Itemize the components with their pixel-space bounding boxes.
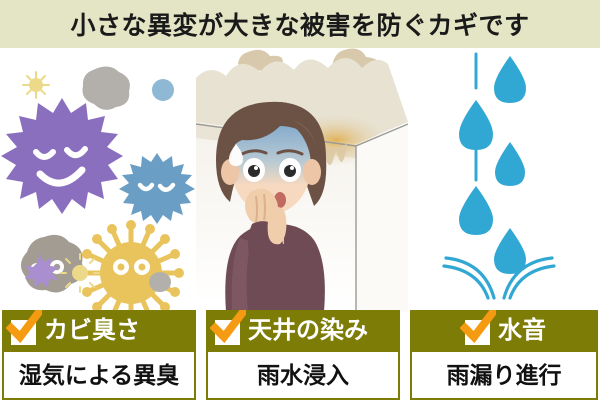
symptom-card-mold-smell[interactable]: カビ臭さ 湿気による異臭 [2,310,196,400]
card-body-text: 雨漏り進行 [447,364,562,387]
shocked-woman-icon [196,48,408,312]
infographic-root: 小さな異変が大きな被害を防ぐカギです [0,0,600,400]
mold-germs-illustration [0,48,200,312]
water-drip-illustration [408,48,600,312]
symptom-card-water-sound[interactable]: 水音 雨漏り進行 [410,310,598,400]
symptom-card-row: カビ臭さ 湿気による異臭 天井の染み 雨水浸入 [0,310,600,400]
header-banner: 小さな異変が大きな被害を防ぐカギです [0,0,600,48]
illustration-band [0,48,600,312]
card-title: 天井の染み [248,319,368,343]
checkmark-icon [462,316,492,346]
ceiling-stain-woman-illustration [196,48,408,312]
card-body: 雨水浸入 [206,352,400,400]
card-body-text: 雨水浸入 [257,364,349,387]
card-title: 水音 [498,319,546,343]
card-body: 雨漏り進行 [410,352,598,400]
card-body-text: 湿気による異臭 [19,364,179,387]
card-body: 湿気による異臭 [2,352,196,400]
page-title: 小さな異変が大きな被害を防ぐカギです [70,6,529,42]
card-header: 水音 [410,310,598,352]
checkmark-icon [8,316,38,346]
card-header: カビ臭さ [2,310,196,352]
water-drop-icon [408,48,600,312]
card-header: 天井の染み [206,310,400,352]
germ-cluster-icon [0,48,200,312]
checkmark-icon [212,316,242,346]
symptom-card-ceiling-stain[interactable]: 天井の染み 雨水浸入 [206,310,400,400]
card-title: カビ臭さ [44,319,140,343]
